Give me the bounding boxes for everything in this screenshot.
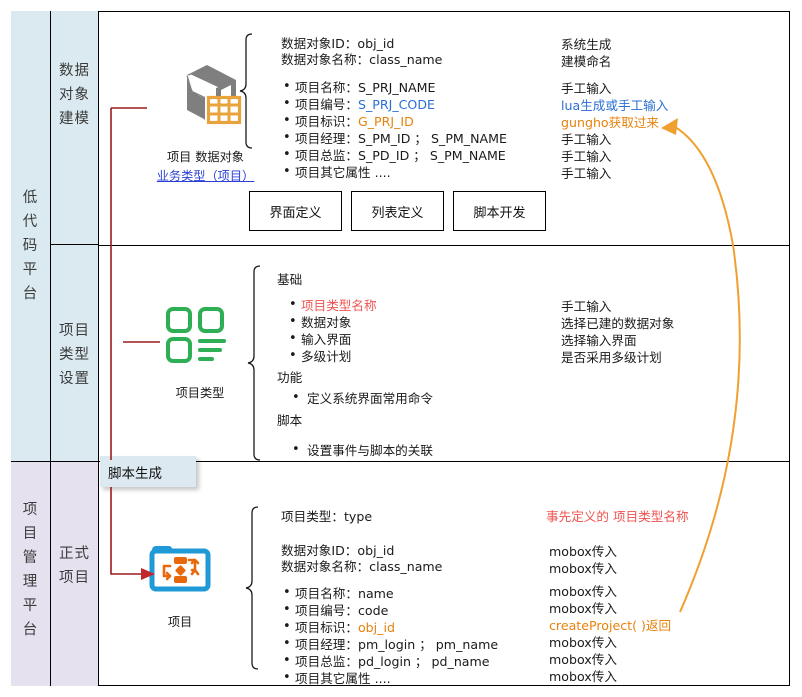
projtype-group-script: 脚本 [277,413,302,429]
platform-label-lowcode: 低 代 码 平 台 [11,186,50,306]
annotation: mobox传入 [549,543,617,560]
annotation: 手工输入 [561,148,668,165]
project-icon-caption: 项目 [120,612,240,630]
list-item: 项目经理：pm_login ； pm_name [281,636,498,653]
list-item: 数据对象 [287,314,377,331]
list-item: 项目类型名称 [287,297,377,314]
project-type-grid-icon [164,305,236,367]
projtype-annotations: 手工输入 选择已建的数据对象 选择输入界面 是否采用多级计划 [561,298,674,366]
box-script-development[interactable]: 脚本开发 [453,191,546,231]
platform-label-lowcode-c0: 低 [11,186,50,210]
list-item: 项目标识：G_PRJ_ID [281,113,507,130]
list-item: 项目名称：S_PRJ_NAME [281,79,507,96]
list-item: 项目编号：code [281,602,498,619]
modeling-header-line-0: 数据对象ID：obj_id [281,36,394,52]
script-generation-callout[interactable]: 脚本生成 [100,456,196,487]
rowname-formal-label: 正式项目 [51,542,98,590]
rowname-modeling[interactable]: 数据对象建模 [51,11,98,245]
platform-band-pm: 项 目 管 理 平 台 [11,461,50,686]
cube-icon-caption: 项目 数据对象 [133,147,278,165]
platform-label-lowcode-c1: 代 [11,210,50,234]
platform-label-pm-c5: 台 [11,618,50,642]
annotation: 手工输入 [561,165,668,182]
annotation: 选择输入界面 [561,332,674,349]
platform-label-pm-c2: 管 [11,546,50,570]
annotation: 系统生成 [561,36,668,53]
list-item: 项目经理：S_PM_ID ； S_PM_NAME [281,130,507,147]
formal-header-line-0: 数据对象ID：obj_id [281,543,394,559]
annotation: createProject( )返回 [549,617,671,634]
project-type-icon-caption: 项目类型 [140,383,260,401]
annotation: 事先定义的 项目类型名称 [546,508,689,525]
divider-modeling-projtype [99,245,790,246]
divider-projtype-formal [99,461,790,462]
data-object-cube-icon [160,58,250,138]
list-item: 项目总监：S_PD_ID ； S_PM_NAME [281,147,507,164]
list-item: 输入界面 [287,331,377,348]
annotation: gungho获取过来 [561,114,668,131]
projtype-basic-list: 项目类型名称 数据对象 输入界面 多级计划 [287,297,377,365]
platform-label-pm-c4: 平 [11,594,50,618]
rowname-projtype-label: 项目类型设置 [51,319,98,391]
rowname-projtype[interactable]: 项目类型设置 [51,245,98,461]
rowname-modeling-label: 数据对象建模 [51,59,98,131]
annotation: 是否采用多级计划 [561,349,674,366]
modeling-bullet-list: 项目名称：S_PRJ_NAME 项目编号：S_PRJ_CODE 项目标识：G_P… [281,79,507,181]
annotation: 手工输入 [561,80,668,97]
list-item: 项目名称：name [281,585,498,602]
formal-type-line: 项目类型：type [281,509,372,525]
annotation: mobox传入 [549,668,671,685]
platform-label-pm: 项 目 管 理 平 台 [11,498,50,642]
projtype-script-list: 设置事件与脚本的关联 [290,442,433,459]
list-item: 项目其它属性 .... [281,670,498,687]
box-interface-definition[interactable]: 界面定义 [249,191,342,231]
list-item: 项目编号：S_PRJ_CODE [281,96,507,113]
formal-bullet-list: 项目名称：name 项目编号：code 项目标识：obj_id 项目经理：pm_… [281,585,498,687]
platform-label-lowcode-c4: 台 [11,282,50,306]
platform-column: 低 代 码 平 台 项 目 管 理 平 台 [11,11,51,686]
box-list-definition[interactable]: 列表定义 [351,191,444,231]
formal-annotations-header: mobox传入 mobox传入 [549,543,617,577]
diagram-page: 低 代 码 平 台 项 目 管 理 平 台 数据对象建模 [0,0,802,697]
cube-icon-caption-link[interactable]: 业务类型（项目） [133,166,278,184]
annotation: 手工输入 [561,298,674,315]
project-folder-flow-icon [148,540,212,596]
annotation: mobox传入 [549,600,671,617]
annotation: 手工输入 [561,131,668,148]
projtype-function-list: 定义系统界面常用命令 [290,390,433,407]
platform-band-lowcode: 低 代 码 平 台 [11,11,50,461]
list-item: 定义系统界面常用命令 [290,390,433,407]
list-item: 项目其它属性 .... [281,164,507,181]
annotation: mobox传入 [549,560,617,577]
platform-label-lowcode-c2: 码 [11,234,50,258]
formal-annotations-body: mobox传入 mobox传入 createProject( )返回 mobox… [549,583,671,685]
list-item: 项目总监：pd_login ； pd_name [281,653,498,670]
rowname-formal[interactable]: 正式项目 [51,461,98,686]
platform-label-pm-c0: 项 [11,498,50,522]
annotation: mobox传入 [549,634,671,651]
formal-annotation-type: 事先定义的 项目类型名称 [546,508,689,525]
formal-header-line-1: 数据对象名称：class_name [281,559,442,575]
list-item: 项目标识：obj_id [281,619,498,636]
annotation: lua生成或手工输入 [561,97,668,114]
annotation: mobox传入 [549,651,671,668]
annotation: 建模命名 [561,53,668,70]
annotation: mobox传入 [549,583,671,600]
modeling-header-line-1: 数据对象名称：class_name [281,52,442,68]
annotation: 选择已建的数据对象 [561,315,674,332]
platform-label-pm-c3: 理 [11,570,50,594]
projtype-group-basic: 基础 [277,272,302,288]
projtype-group-function: 功能 [277,370,302,386]
modeling-annotations: 系统生成 建模命名 手工输入 lua生成或手工输入 gungho获取过来 手工输… [561,36,668,182]
list-item: 设置事件与脚本的关联 [290,442,433,459]
list-item: 多级计划 [287,348,377,365]
platform-label-lowcode-c3: 平 [11,258,50,282]
platform-label-pm-c1: 目 [11,522,50,546]
rowname-column: 数据对象建模 项目类型设置 正式项目 [51,11,99,686]
